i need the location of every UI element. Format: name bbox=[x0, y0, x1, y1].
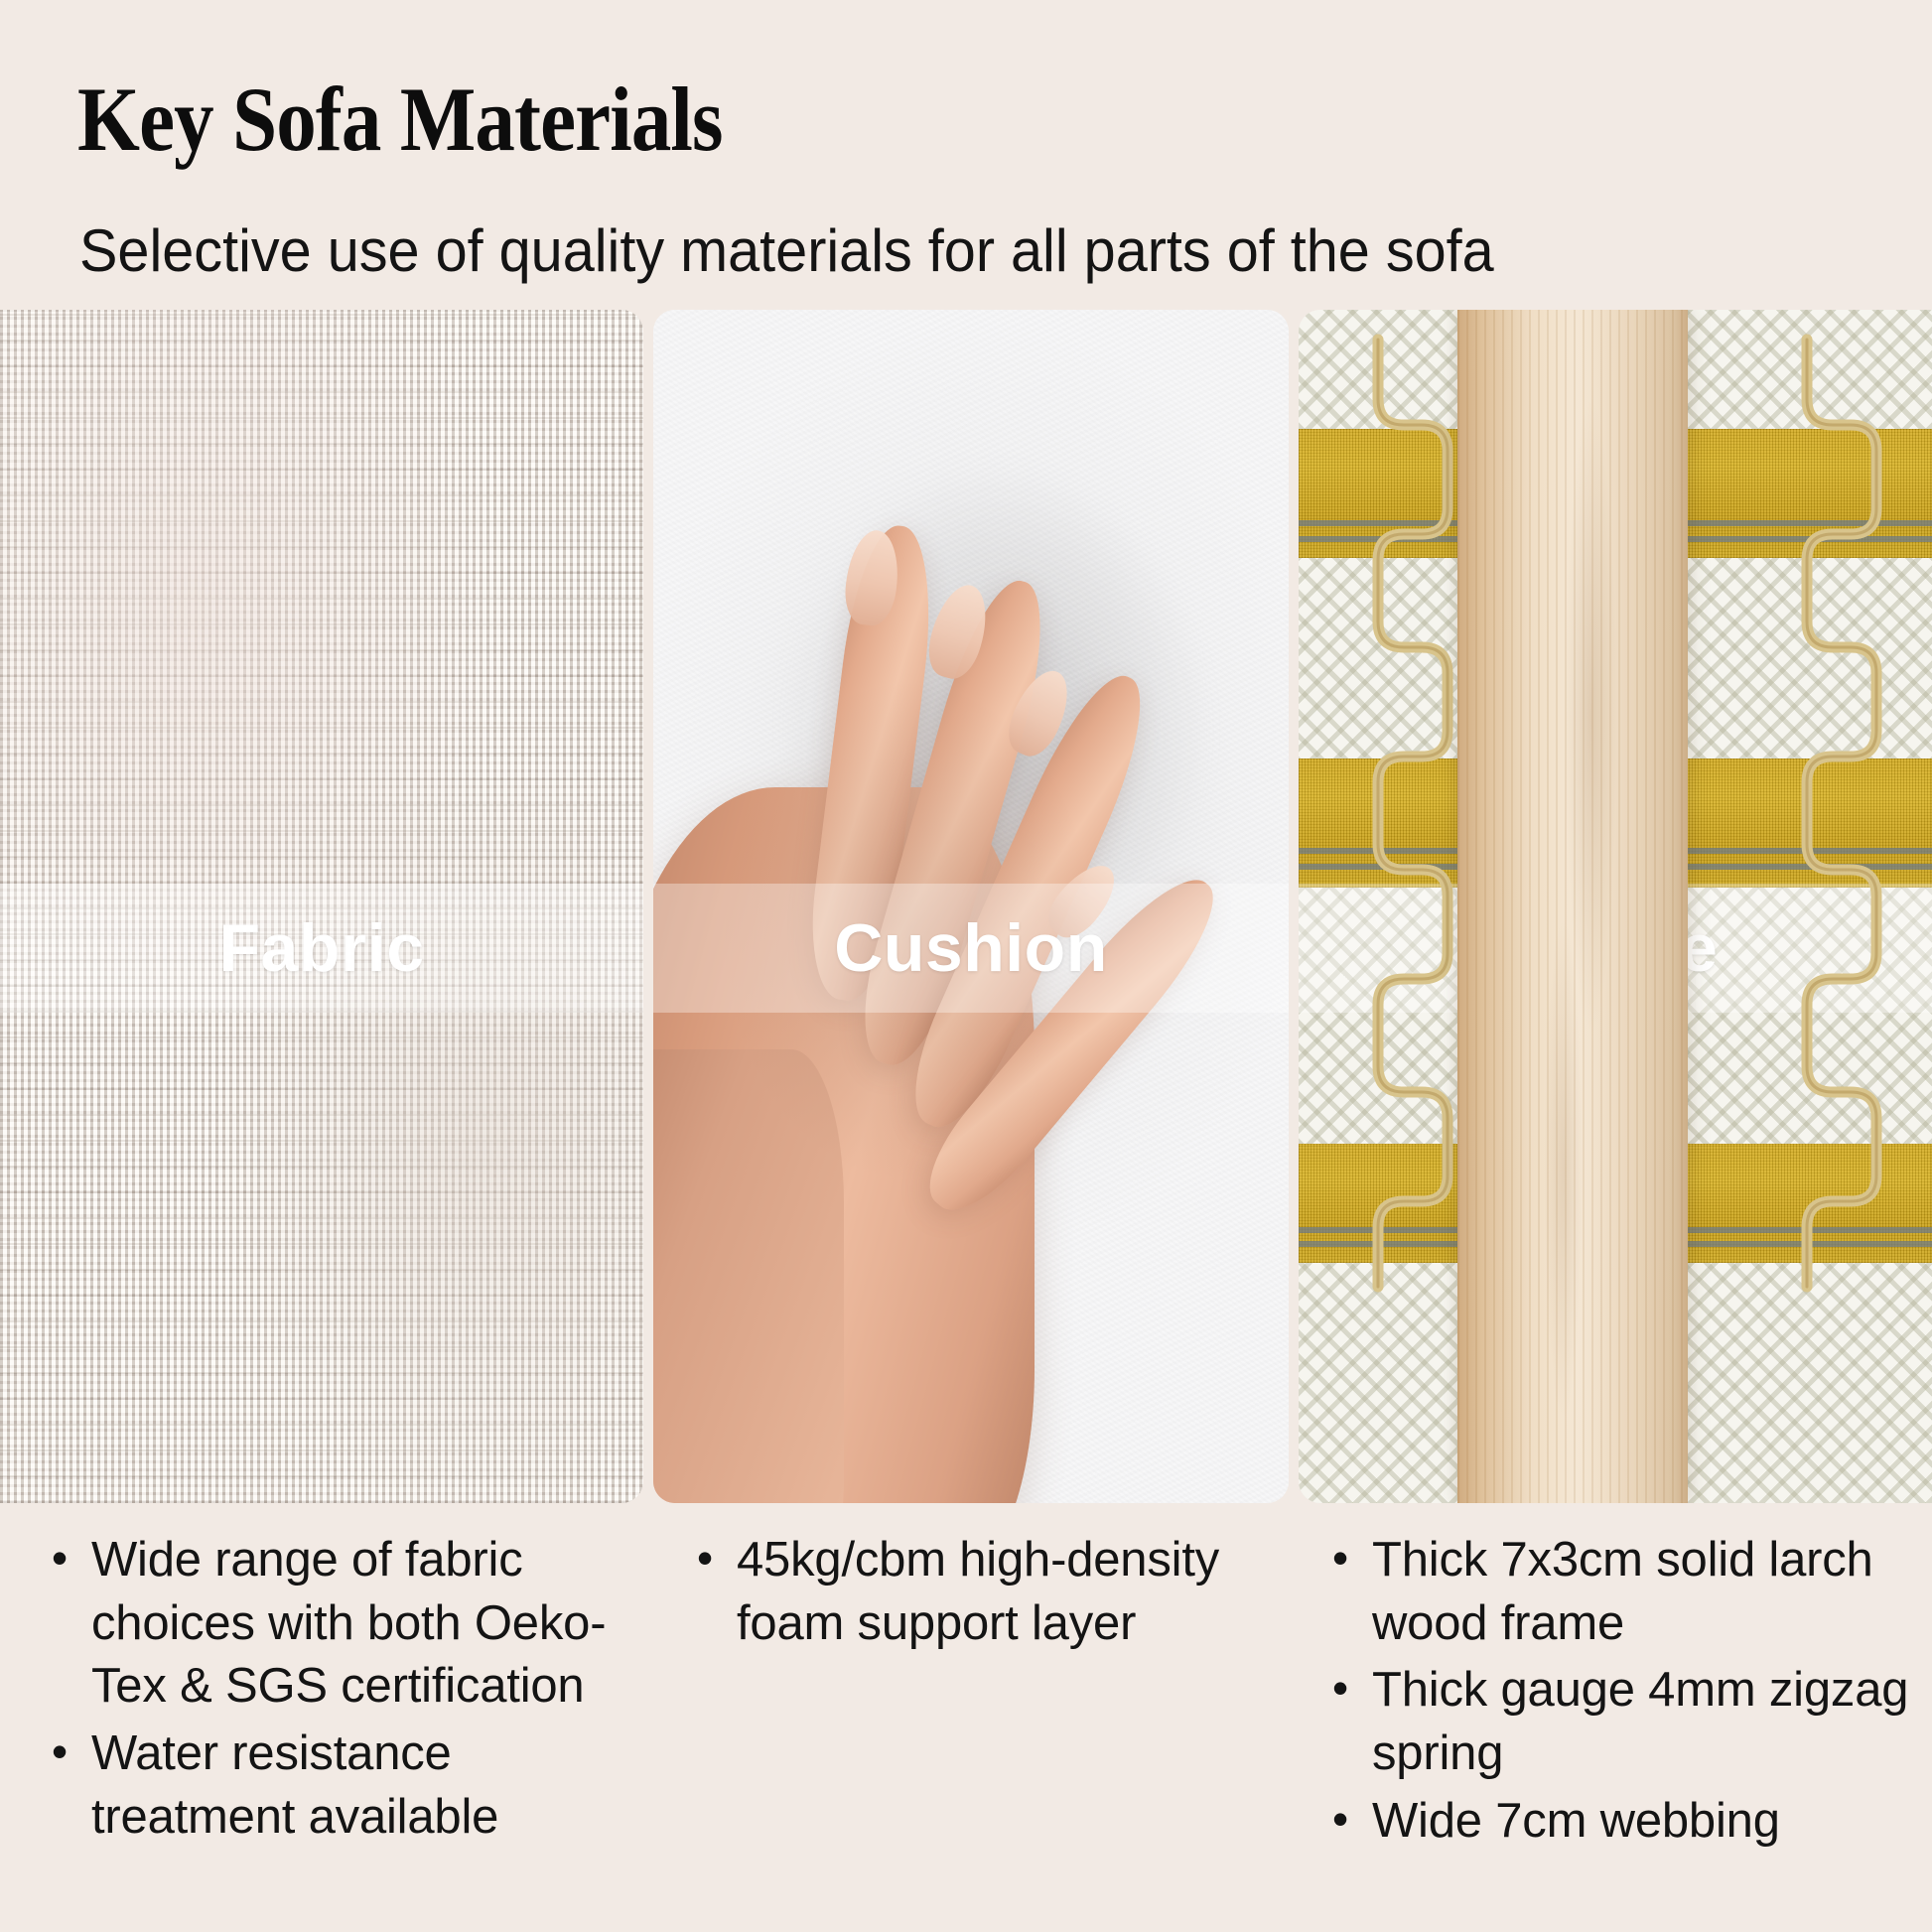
bullet-column-fabric: Wide range of fabric choices with both O… bbox=[40, 1529, 635, 1853]
panel-frame: Frame bbox=[1299, 310, 1932, 1503]
page-subtitle: Selective use of quality materials for a… bbox=[79, 216, 1494, 285]
list-item: Wide range of fabric choices with both O… bbox=[91, 1529, 635, 1719]
panel-cushion: Cushion bbox=[653, 310, 1289, 1503]
list-item: Water resistance treatment available bbox=[91, 1723, 635, 1849]
bullet-list-frame: Thick 7x3cm solid larch wood frame Thick… bbox=[1320, 1529, 1916, 1853]
page-title: Key Sofa Materials bbox=[77, 73, 723, 165]
bullet-column-cushion: 45kg/cbm high-density foam support layer bbox=[685, 1529, 1281, 1659]
bullet-list-cushion: 45kg/cbm high-density foam support layer bbox=[685, 1529, 1281, 1655]
bullet-column-frame: Thick 7x3cm solid larch wood frame Thick… bbox=[1320, 1529, 1916, 1857]
panel-fabric: Fabric bbox=[0, 310, 643, 1503]
list-item: Thick gauge 4mm zigzag spring bbox=[1372, 1659, 1916, 1785]
list-item: Wide 7cm webbing bbox=[1372, 1790, 1916, 1854]
material-panels: Fabric bbox=[0, 310, 1932, 1503]
wood-frame-post bbox=[1457, 310, 1688, 1503]
panel-label-fabric: Fabric bbox=[0, 884, 643, 1013]
panel-label-cushion: Cushion bbox=[653, 884, 1289, 1013]
bullet-columns: Wide range of fabric choices with both O… bbox=[0, 1529, 1932, 1932]
frame-structure-image bbox=[1299, 310, 1932, 1503]
infographic-page: Key Sofa Materials Selective use of qual… bbox=[0, 0, 1932, 1932]
list-item: 45kg/cbm high-density foam support layer bbox=[737, 1529, 1281, 1655]
bullet-list-fabric: Wide range of fabric choices with both O… bbox=[40, 1529, 635, 1849]
list-item: Thick 7x3cm solid larch wood frame bbox=[1372, 1529, 1916, 1655]
